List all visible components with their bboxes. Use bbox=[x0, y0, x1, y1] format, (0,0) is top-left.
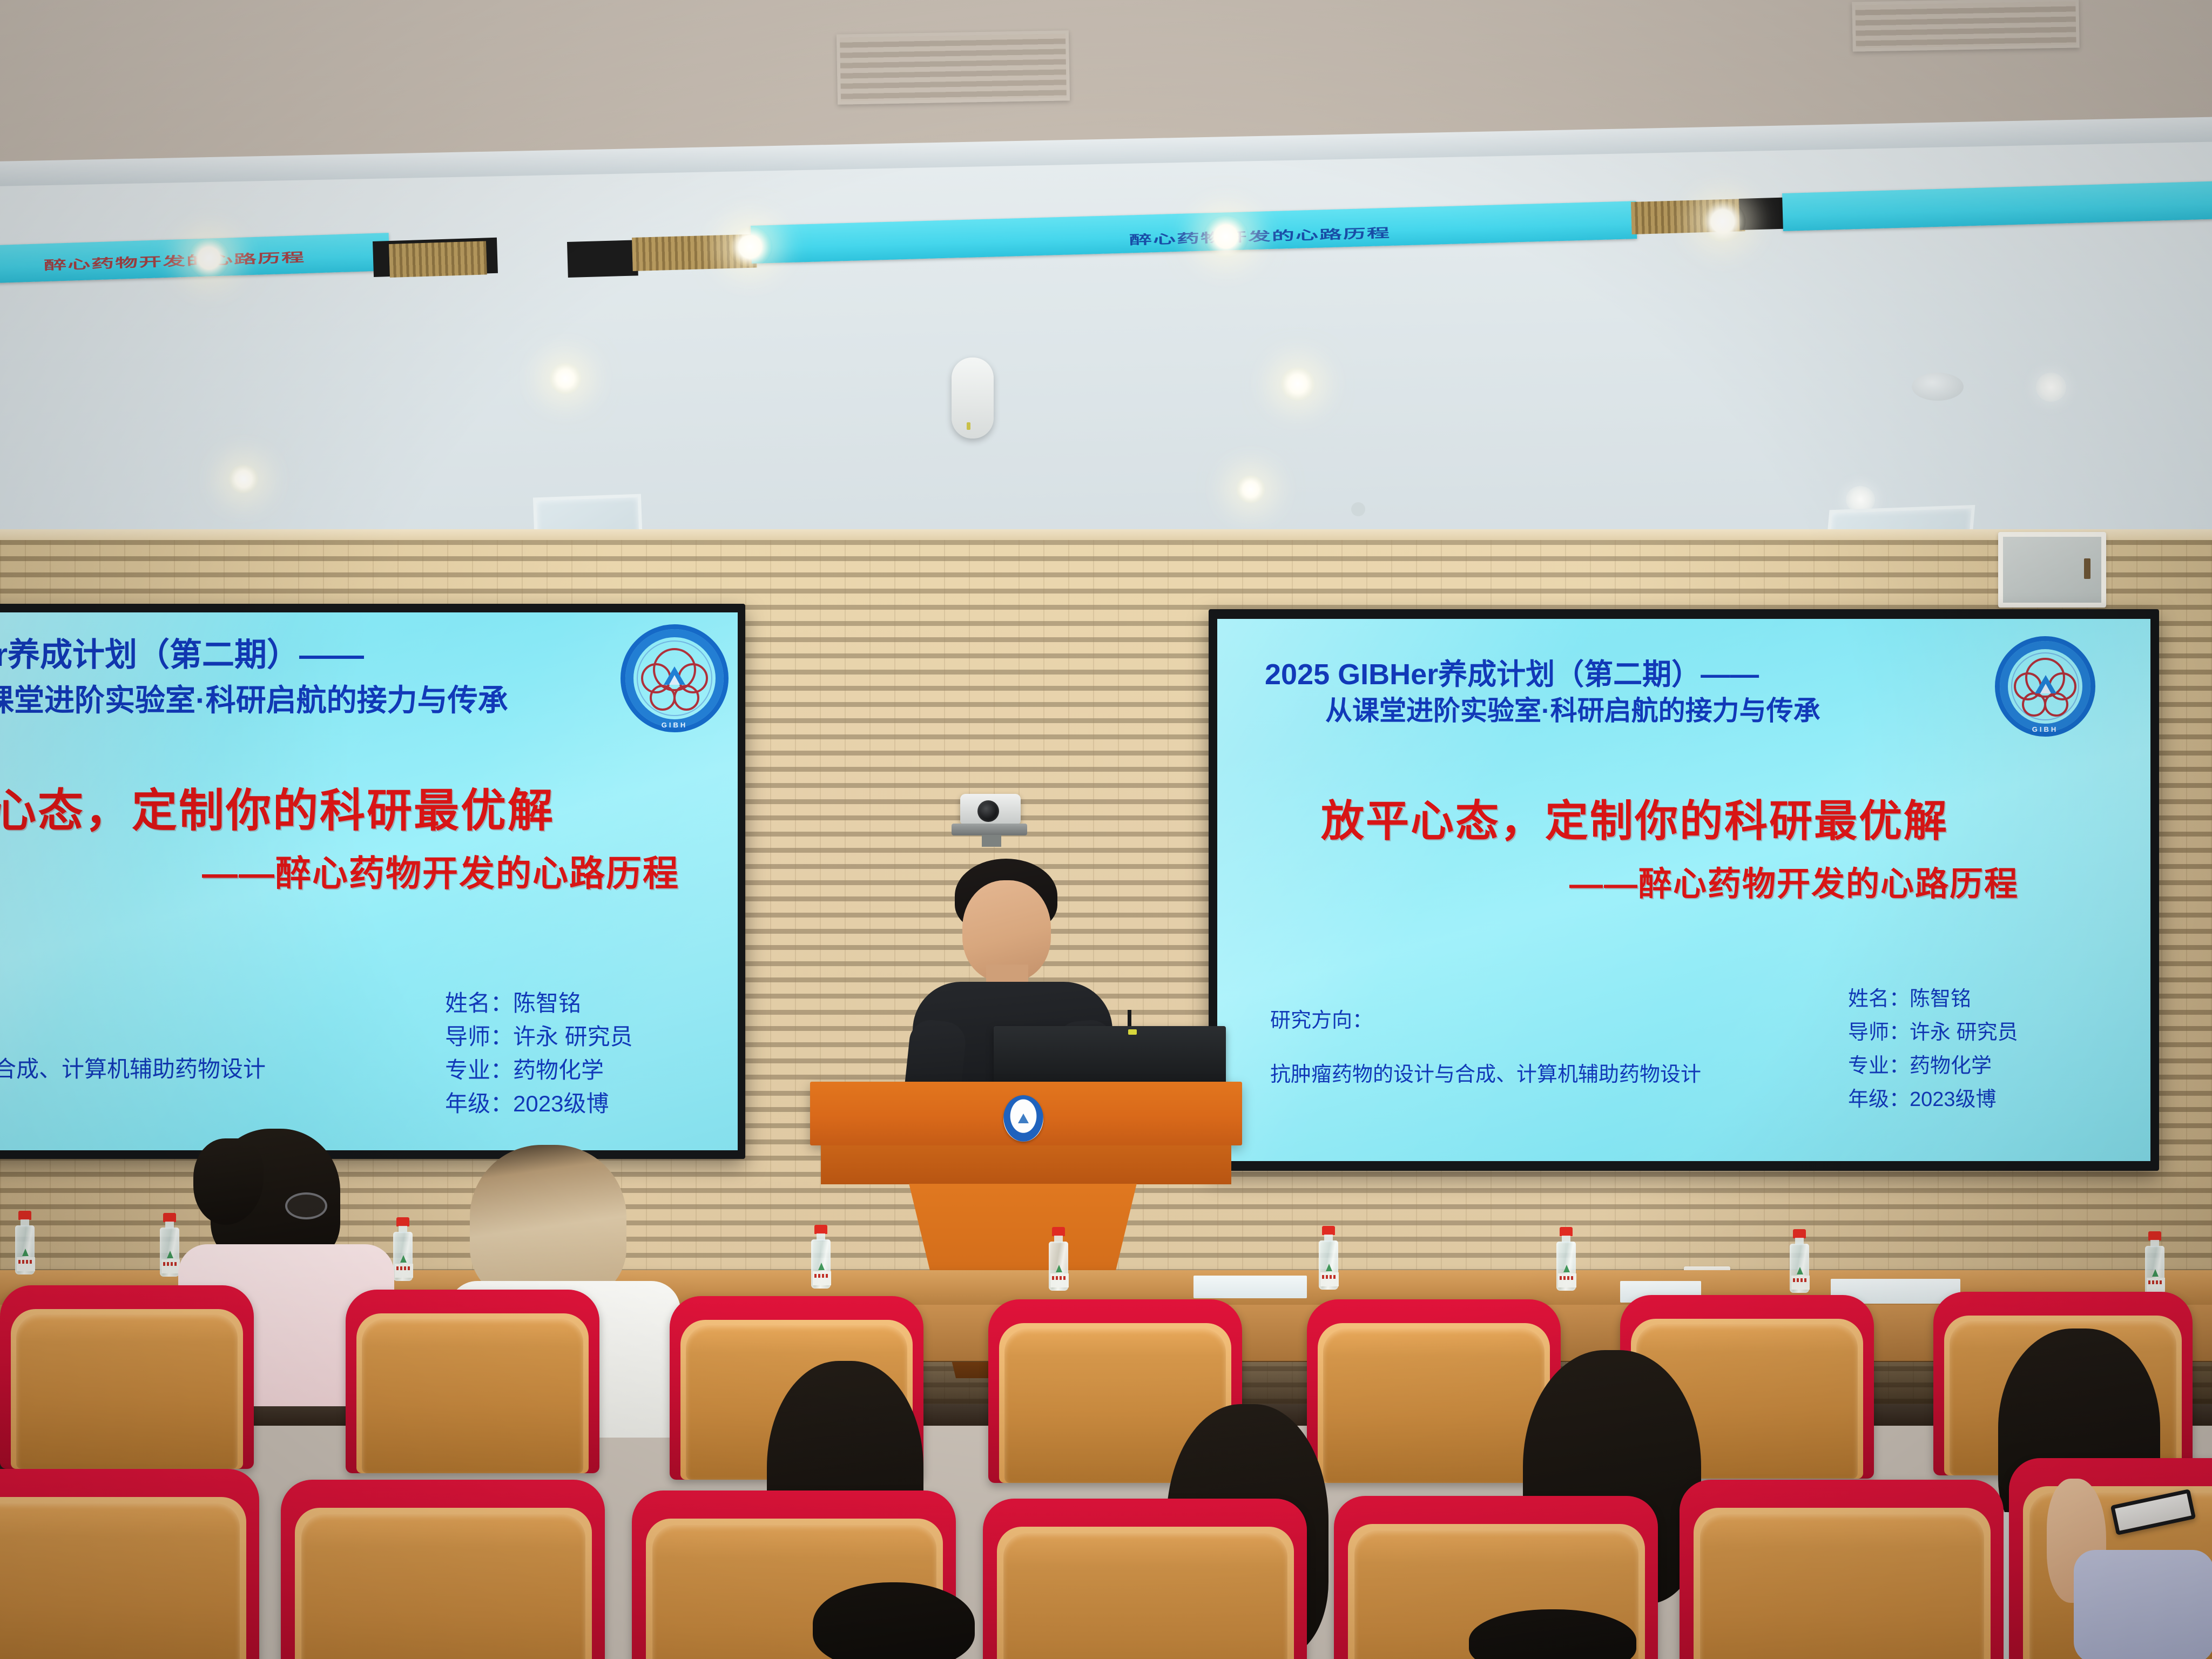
ceiling-sprinkler-icon bbox=[1351, 502, 1365, 516]
ceiling-downlight bbox=[728, 227, 772, 267]
air-vent-grille-icon bbox=[1852, 0, 2080, 52]
left-slide-heading-line1: Her养成计划（第二期）—— bbox=[0, 629, 364, 676]
ceiling-downlight bbox=[2036, 373, 2066, 402]
bottle-label bbox=[17, 1257, 35, 1271]
left-info-grade-label: 年级： bbox=[445, 1091, 513, 1116]
info-advisor-value: 许永 研究员 bbox=[1910, 1021, 2018, 1044]
info-grade: 年级：2023级博 bbox=[1848, 1082, 1997, 1112]
bottle-leaf-icon bbox=[2152, 1269, 2159, 1277]
bottle-label bbox=[1320, 1272, 1339, 1286]
bottle-leaf-icon bbox=[1797, 1267, 1803, 1274]
lecture-hall-photo: 醉心药物开发的心路历程 醉心药物开发的心路历程 Her养成计划（第二期）—— 从… bbox=[0, 0, 2212, 1659]
bottle-leaf-icon bbox=[1326, 1264, 1332, 1271]
left-slide-subtitle: ——醉心药物开发的心路历程 bbox=[202, 845, 679, 896]
info-grade-label: 年级： bbox=[1848, 1088, 1910, 1111]
water-bottle bbox=[14, 1211, 36, 1274]
auditorium-chair bbox=[0, 1285, 254, 1469]
left-info-advisor: 导师：许永 研究员 bbox=[445, 1019, 633, 1051]
bottle-label bbox=[2147, 1278, 2165, 1292]
auditorium-chair bbox=[346, 1290, 599, 1473]
left-info-grade-value: 2023级博 bbox=[513, 1091, 609, 1116]
auditorium-chair bbox=[983, 1499, 1307, 1659]
bottle-cap bbox=[163, 1213, 176, 1222]
slide-heading-line1: 2025 GIBHer养成计划（第二期）—— bbox=[1265, 650, 1759, 693]
desk-papers bbox=[1193, 1276, 1307, 1298]
gibh-acronym: GIBH bbox=[621, 721, 729, 729]
left-info-advisor-value: 许永 研究员 bbox=[513, 1024, 633, 1049]
bottle-leaf-icon bbox=[167, 1251, 173, 1258]
left-info-major: 专业：药物化学 bbox=[445, 1052, 604, 1085]
bottle-cap bbox=[1052, 1227, 1065, 1236]
water-bottle bbox=[1789, 1229, 1810, 1293]
ptz-camera bbox=[952, 794, 1027, 846]
water-bottle bbox=[810, 1225, 832, 1289]
attendee-head bbox=[813, 1582, 975, 1659]
wall-gap-wood bbox=[389, 241, 487, 278]
ceiling-downlight bbox=[1236, 475, 1266, 503]
left-info-grade: 年级：2023级博 bbox=[445, 1085, 609, 1118]
info-grade-value: 2023级博 bbox=[1910, 1088, 1997, 1111]
bottle-leaf-icon bbox=[1563, 1265, 1570, 1272]
water-bottle bbox=[1048, 1227, 1069, 1291]
reflection-text-right: 醉心药物开发的心路历程 bbox=[1129, 223, 1391, 248]
bottle-cap bbox=[1560, 1227, 1573, 1236]
water-bottle bbox=[1555, 1227, 1577, 1291]
bottle-label bbox=[1558, 1273, 1576, 1287]
bottle-cap bbox=[2148, 1231, 2161, 1240]
bottle-leaf-icon bbox=[818, 1263, 825, 1270]
left-projection-screen-frame: Her养成计划（第二期）—— 从课堂进阶实验室·科研启航的接力与传承 GIBH … bbox=[0, 604, 745, 1159]
slide-heading-line2: 从课堂进阶实验室·科研启航的接力与传承 bbox=[1325, 689, 1820, 728]
bottle-label bbox=[1791, 1276, 1810, 1290]
auditorium-chair bbox=[1680, 1480, 2004, 1659]
info-major-value: 药物化学 bbox=[1910, 1055, 1992, 1077]
info-advisor-label: 导师： bbox=[1848, 1021, 1910, 1044]
left-info-name-label: 姓名： bbox=[445, 990, 513, 1016]
smoke-detector-icon bbox=[1912, 373, 1964, 401]
auditorium-chair bbox=[1307, 1299, 1561, 1483]
bottle-cap bbox=[814, 1225, 827, 1234]
bottle-label bbox=[813, 1271, 831, 1285]
research-direction-value: 抗肿瘤药物的设计与合成、计算机辅助药物设计 bbox=[1270, 1057, 1701, 1087]
ceiling-gap-shadow bbox=[567, 240, 638, 278]
bottle-cap bbox=[18, 1211, 31, 1220]
water-bottle bbox=[2144, 1231, 2166, 1295]
gibh-logo-icon: GIBH bbox=[621, 624, 729, 732]
right-projection-screen: 2025 GIBHer养成计划（第二期）—— 从课堂进阶实验室·科研启航的接力与… bbox=[1217, 619, 2150, 1161]
bottle-label bbox=[161, 1259, 180, 1273]
ceiling-downlight bbox=[228, 464, 259, 494]
bottle-cap bbox=[1322, 1226, 1335, 1235]
right-projection-screen-frame: 2025 GIBHer养成计划（第二期）—— 从课堂进阶实验室·科研启航的接力与… bbox=[1209, 609, 2159, 1171]
slide-title: 放平心态，定制你的科研最优解 bbox=[1321, 786, 1948, 849]
reflection-text-left: 醉心药物开发的心路历程 bbox=[44, 247, 306, 274]
info-name-label: 姓名： bbox=[1848, 988, 1910, 1010]
ceiling-downlight bbox=[1280, 367, 1316, 401]
camera-mount-arm bbox=[982, 835, 1001, 847]
auditorium-chair bbox=[0, 1469, 259, 1659]
left-info-advisor-label: 导师： bbox=[445, 1024, 513, 1049]
water-bottle bbox=[159, 1213, 180, 1277]
research-direction-label: 研究方向： bbox=[1270, 1003, 1373, 1033]
wall-access-panel bbox=[1998, 532, 2106, 608]
info-name: 姓名：陈智铭 bbox=[1848, 982, 1971, 1011]
bottle-cap bbox=[1793, 1229, 1806, 1238]
podium-emblem-icon bbox=[1003, 1095, 1043, 1142]
ceiling-speaker-icon bbox=[952, 358, 994, 439]
left-info-name-value: 陈智铭 bbox=[513, 990, 581, 1016]
slide-subtitle: ——醉心药物开发的心路历程 bbox=[1569, 857, 2019, 905]
left-slide-heading-line2: 从课堂进阶实验室·科研启航的接力与传承 bbox=[0, 676, 508, 720]
info-advisor: 导师：许永 研究员 bbox=[1848, 1015, 2018, 1045]
left-info-major-label: 专业： bbox=[445, 1057, 513, 1083]
attendee-sleeve bbox=[2074, 1550, 2212, 1659]
info-major: 专业：药物化学 bbox=[1848, 1049, 1992, 1078]
auditorium-chair bbox=[281, 1480, 605, 1659]
info-major-label: 专业： bbox=[1848, 1055, 1910, 1077]
air-vent-grille-icon bbox=[837, 30, 1070, 104]
ceiling-gap-shadow bbox=[1739, 197, 1789, 230]
left-projection-screen: Her养成计划（第二期）—— 从课堂进阶实验室·科研启航的接力与传承 GIBH … bbox=[0, 612, 738, 1150]
podium-lip bbox=[821, 1145, 1231, 1184]
left-info-name: 姓名：陈智铭 bbox=[445, 985, 581, 1018]
camera-lens-icon bbox=[977, 800, 999, 822]
ceiling-downlight bbox=[1700, 201, 1745, 242]
bottle-label bbox=[1050, 1273, 1069, 1287]
info-name-value: 陈智铭 bbox=[1910, 988, 1971, 1010]
gibh-logo-icon: GIBH bbox=[1995, 636, 2095, 737]
attendee-hair bbox=[470, 1145, 626, 1301]
ceiling-downlight bbox=[188, 239, 230, 278]
ceiling-downlight bbox=[1203, 216, 1249, 257]
left-slide-title: 平心态，定制你的科研最优解 bbox=[0, 774, 555, 840]
water-bottle bbox=[1318, 1226, 1339, 1290]
left-research-value: 计与合成、计算机辅助药物设计 bbox=[0, 1051, 266, 1084]
ceiling-downlight bbox=[549, 363, 582, 394]
bottle-leaf-icon bbox=[22, 1249, 29, 1256]
bottle-leaf-icon bbox=[1056, 1265, 1062, 1272]
attendee-glasses-icon bbox=[285, 1192, 327, 1219]
camera-mount-base bbox=[952, 824, 1027, 835]
gibh-acronym: GIBH bbox=[1995, 725, 2095, 733]
left-info-major-value: 药物化学 bbox=[513, 1057, 604, 1083]
presenter-laptop bbox=[994, 1026, 1226, 1088]
